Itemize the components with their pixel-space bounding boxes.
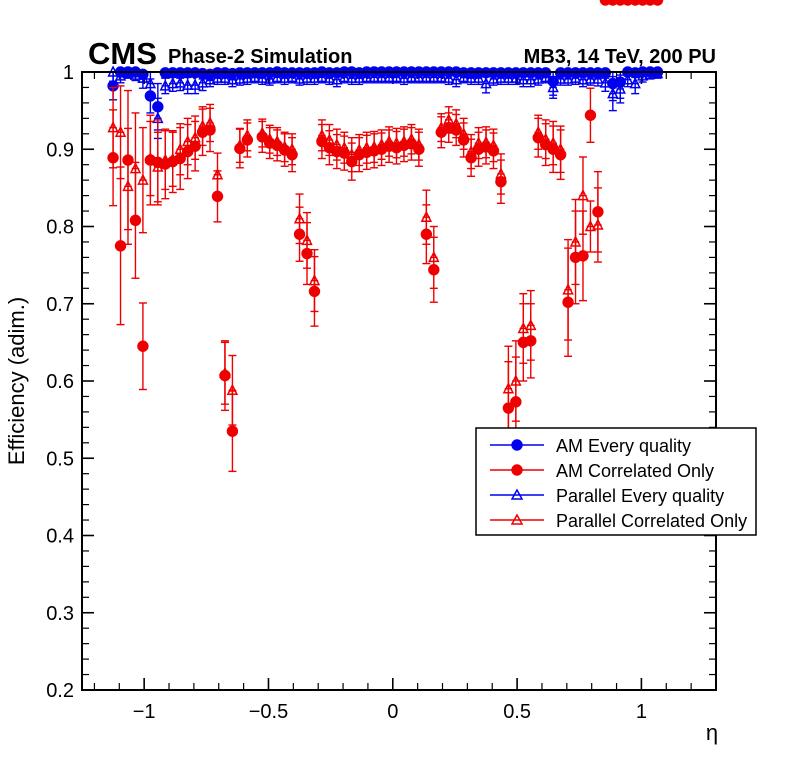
legend-marker-filled-circle — [512, 440, 522, 450]
background — [0, 0, 796, 772]
legend-label-1[interactable]: AM Correlated Only — [556, 461, 714, 481]
marker-filled-circle — [585, 110, 595, 120]
y-tick-label: 0.2 — [46, 680, 74, 702]
legend-label-0[interactable]: AM Every quality — [556, 436, 691, 456]
marker-filled-circle — [115, 241, 125, 251]
y-tick-label: 0.6 — [46, 371, 74, 393]
beam-conditions-label: MB3, 14 TeV, 200 PU — [524, 46, 716, 68]
plot-canvas: CMS Phase-2 Simulation MB3, 14 TeV, 200 … — [0, 0, 796, 772]
legend-label-2[interactable]: Parallel Every quality — [556, 486, 724, 506]
legend-marker-filled-circle — [512, 465, 522, 475]
x-tick-label: 1 — [636, 701, 647, 723]
y-axis-title: Efficiency (adim.) — [4, 297, 29, 465]
y-tick-label: 1 — [63, 62, 74, 84]
x-tick-label: −0.5 — [249, 701, 288, 723]
y-tick-label: 0.5 — [46, 448, 74, 470]
phase2-simulation-label: Phase-2 Simulation — [168, 46, 353, 68]
marker-filled-circle — [227, 426, 237, 436]
y-tick-label: 0.7 — [46, 294, 74, 316]
marker-filled-circle — [138, 341, 148, 351]
y-tick-label: 0.3 — [46, 603, 74, 625]
y-tick-label: 0.4 — [46, 526, 74, 548]
legend[interactable]: AM Every qualityAM Correlated OnlyParall… — [476, 428, 756, 535]
x-tick-label: −1 — [133, 701, 156, 723]
x-tick-label: 0 — [387, 701, 398, 723]
x-axis-title: η — [706, 720, 718, 745]
y-tick-label: 0.8 — [46, 217, 74, 239]
efficiency-scatter-plot: CMS Phase-2 Simulation MB3, 14 TeV, 200 … — [0, 0, 796, 772]
legend-label-3[interactable]: Parallel Correlated Only — [556, 511, 747, 531]
x-tick-label: 0.5 — [503, 701, 531, 723]
cms-label: CMS — [88, 36, 157, 71]
y-tick-label: 0.9 — [46, 139, 74, 161]
